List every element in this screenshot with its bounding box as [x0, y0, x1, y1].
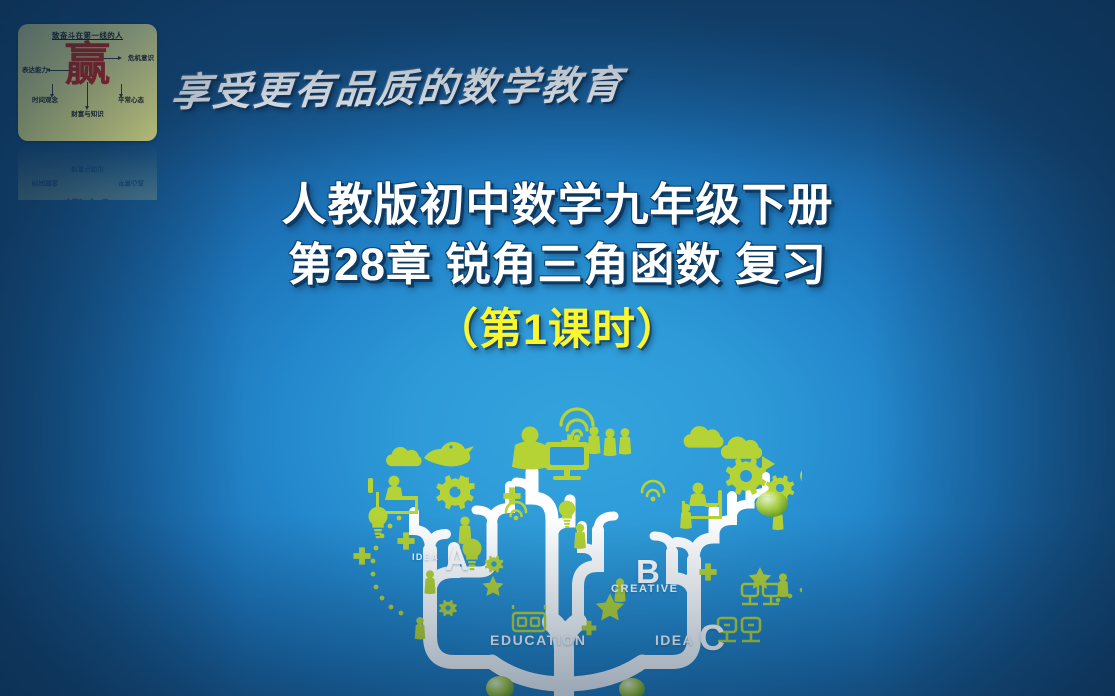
logo-label-wealth: 财富与知识	[18, 108, 157, 118]
title-subtitle: （第1课时）	[0, 307, 1115, 354]
person-icon	[574, 524, 586, 549]
win-character: 赢	[65, 42, 111, 88]
cloud-icon	[721, 437, 762, 459]
monitor-icon	[545, 442, 589, 480]
artwork-label-creative: CREATIVE	[611, 583, 679, 595]
artwork-label-education: EDUCATION	[490, 632, 587, 648]
plus-icon	[699, 563, 716, 580]
title-line-2: 第28章 锐角三角函数 复习	[0, 235, 1115, 295]
media-player-icon	[742, 584, 779, 604]
artwork-label-a: A	[445, 540, 470, 578]
logo-yellow-card: 致奋斗在第一线的人 赢 表达能力 危机意识 时间观念 平常心态	[18, 24, 157, 141]
logo-diagram: 赢 表达能力 危机意识 时间观念 平常心态 财富与知识	[18, 44, 157, 106]
person-icon	[415, 617, 426, 639]
signal-icon	[642, 481, 664, 496]
people-group-icon	[587, 426, 631, 456]
cloud-icon	[684, 426, 724, 448]
brand-tagline: 享受更有品质的数学教育	[169, 54, 626, 118]
green-sphere-icon	[800, 466, 802, 486]
person-icon	[512, 427, 548, 470]
plus-icon	[353, 547, 370, 564]
title-block: 人教版初中数学九年级下册 第28章 锐角三角函数 复习 （第1课时）	[0, 175, 1115, 354]
artwork-label-idea-left: IDEA	[412, 552, 439, 562]
logo-label-time: 时间观念	[32, 94, 58, 104]
media-player-icon	[513, 605, 545, 631]
wifi-icon	[561, 409, 593, 435]
star-icon	[749, 567, 772, 589]
cloud-icon	[386, 447, 422, 466]
win-concept-logo: 致奋斗在第一线的人 赢 表达能力 危机意识 时间观念 平常心态	[18, 24, 157, 200]
logo-label-mindset: 平常心态	[118, 94, 144, 104]
arrow-head-right	[118, 56, 122, 60]
education-knowledge-tree	[342, 400, 802, 696]
title-line-1: 人教版初中数学九年级下册	[0, 175, 1115, 235]
gear-icon	[439, 600, 457, 617]
presentation-slide: 致奋斗在第一线的人 赢 表达能力 危机意识 时间观念 平常心态	[0, 0, 1115, 696]
logo-label-expression: 表达能力	[22, 64, 48, 74]
star-icon	[483, 576, 504, 596]
artwork-label-c: C	[699, 617, 726, 659]
green-sphere-icon	[756, 491, 788, 517]
logo-label-crisis: 危机意识	[128, 52, 154, 62]
person-icon	[424, 570, 435, 594]
lightbulb-icon	[368, 507, 387, 538]
bird-icon	[424, 442, 474, 467]
artwork-label-idea-right: IDEA	[655, 632, 694, 648]
